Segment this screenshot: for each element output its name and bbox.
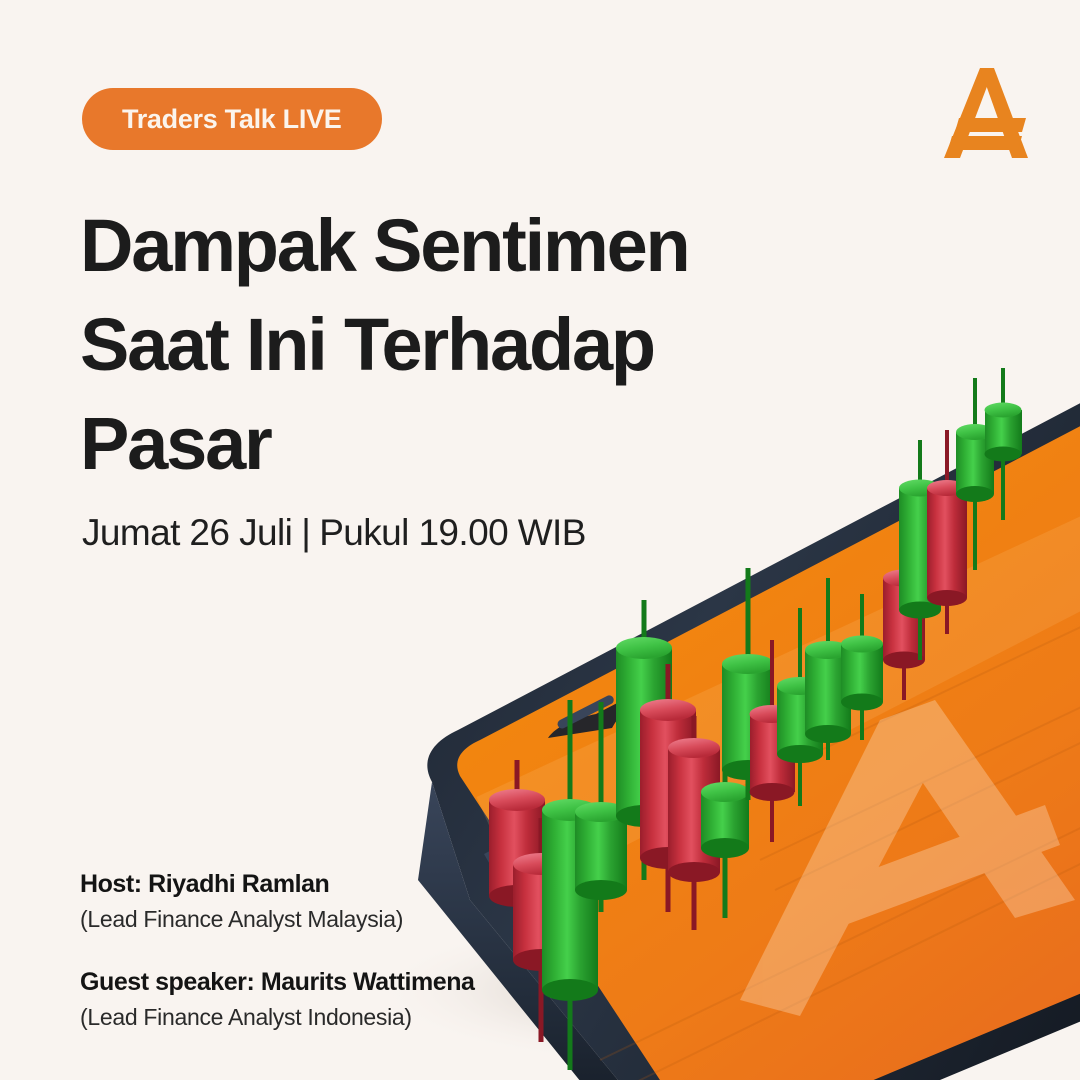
smartphone-graphic bbox=[418, 398, 1080, 1080]
candle-05-green bbox=[616, 600, 672, 880]
candle-02-red bbox=[513, 818, 569, 1042]
poster-canvas: Traders Talk LIVE Dampak Sentimen Saat I… bbox=[0, 0, 1080, 1080]
candle-13-green bbox=[841, 594, 883, 740]
headline-line-3: Pasar bbox=[80, 394, 840, 493]
candle-10-red bbox=[750, 640, 796, 842]
candle-11-green bbox=[777, 608, 823, 806]
candle-01-red bbox=[489, 760, 545, 962]
badge-label: Traders Talk LIVE bbox=[122, 104, 342, 135]
candle-18-green bbox=[985, 368, 1023, 520]
guest-role: (Lead Finance Analyst Indonesia) bbox=[80, 1001, 475, 1034]
credits-block: Host: Riyadhi Ramlan (Lead Finance Analy… bbox=[80, 868, 475, 1035]
host-name: Host: Riyadhi Ramlan bbox=[80, 868, 475, 900]
schedule-line: Jumat 26 Juli|Pukul 19.00 WIB bbox=[82, 512, 586, 554]
candle-15-green bbox=[899, 440, 941, 660]
headline-line-1: Dampak Sentimen bbox=[80, 196, 840, 295]
host-role: (Lead Finance Analyst Malaysia) bbox=[80, 903, 475, 936]
candle-08-green bbox=[701, 700, 749, 918]
candle-07-red bbox=[668, 716, 720, 930]
candle-09-green bbox=[722, 568, 774, 800]
page-title: Dampak Sentimen Saat Ini Terhadap Pasar bbox=[80, 196, 840, 493]
schedule-separator: | bbox=[292, 512, 319, 553]
guest-credit: Guest speaker: Maurits Wattimena (Lead F… bbox=[80, 966, 475, 1034]
candle-03-green bbox=[542, 700, 598, 1070]
schedule-time: Pukul 19.00 WIB bbox=[319, 512, 586, 553]
guest-name: Guest speaker: Maurits Wattimena bbox=[80, 966, 475, 998]
candle-06-red bbox=[640, 664, 696, 912]
traders-talk-live-badge[interactable]: Traders Talk LIVE bbox=[82, 88, 382, 150]
host-credit: Host: Riyadhi Ramlan (Lead Finance Analy… bbox=[80, 868, 475, 936]
schedule-date: Jumat 26 Juli bbox=[82, 512, 292, 553]
candle-17-green bbox=[956, 378, 994, 570]
candle-14-red bbox=[883, 512, 925, 700]
candle-16-red bbox=[927, 430, 967, 634]
candle-04-green bbox=[575, 702, 627, 912]
headline-line-2: Saat Ini Terhadap bbox=[80, 295, 840, 394]
candle-12-green bbox=[805, 578, 851, 760]
logo-a-currency-icon bbox=[940, 62, 1032, 162]
